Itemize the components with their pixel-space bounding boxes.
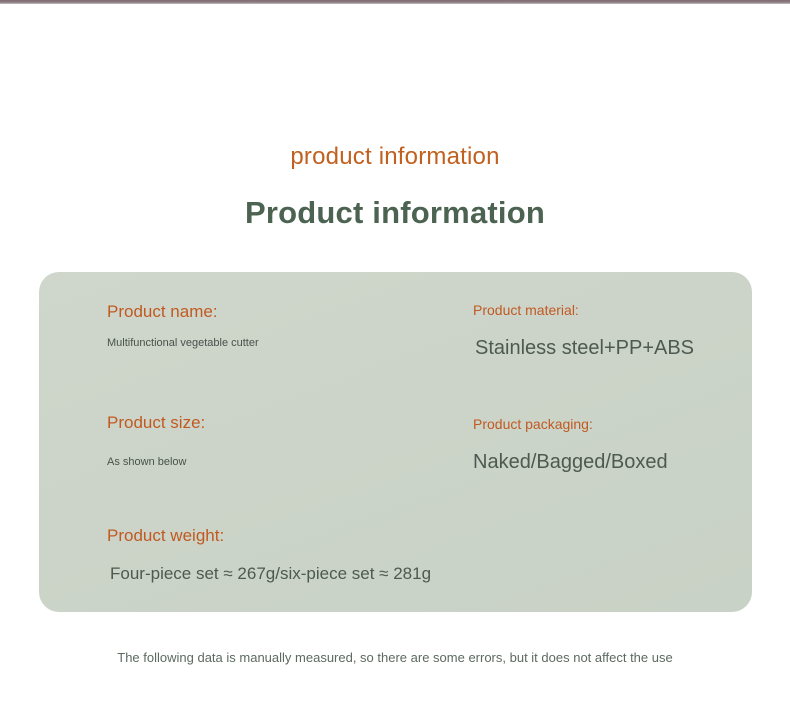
product-material-value: Stainless steel+PP+ABS [475,335,694,361]
top-edge-strip [0,0,790,4]
product-material-label: Product material: [473,301,579,320]
page-title: Product information [0,193,790,233]
product-size-label: Product size: [107,412,205,434]
product-packaging-label: Product packaging: [473,415,593,434]
product-name-value: Multifunctional vegetable cutter [107,336,259,351]
product-size-value: As shown below [107,455,187,470]
page-subtitle-orange: product information [0,142,790,172]
product-information-panel [39,272,752,612]
product-weight-value: Four-piece set ≈ 267g/six-piece set ≈ 28… [110,562,431,585]
product-weight-label: Product weight: [107,525,224,547]
product-name-label: Product name: [107,301,218,323]
measurement-disclaimer: The following data is manually measured,… [0,648,790,667]
product-packaging-value: Naked/Bagged/Boxed [473,449,668,475]
